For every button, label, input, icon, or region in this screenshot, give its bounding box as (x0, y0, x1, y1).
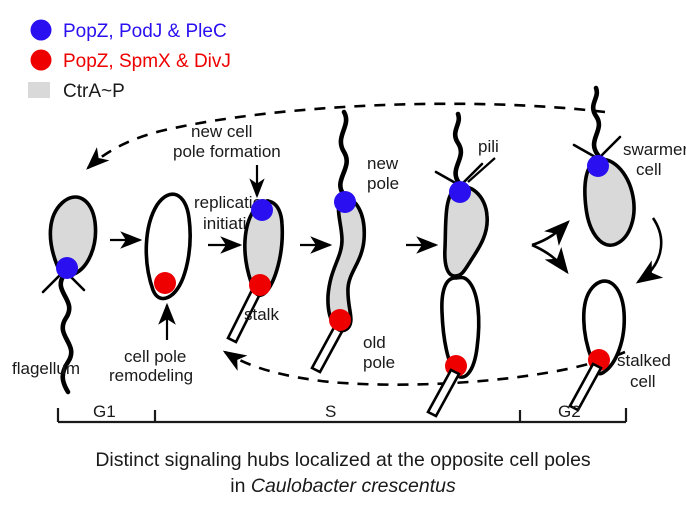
caption-species-name: Caulobacter crescentus (251, 475, 456, 497)
caption-line-2-prefix: in (230, 475, 251, 497)
swarmer-to-stalked-arrow (638, 218, 661, 282)
caption-line-1: Distinct signaling hubs localized at the… (95, 449, 591, 471)
cell-body (328, 198, 364, 331)
daughter-swarmer: swarmer cell (574, 88, 686, 245)
red-circle-marker (31, 50, 52, 71)
label-swarmer-1: swarmer (623, 140, 686, 159)
pili-pointer (468, 158, 495, 182)
dashed-arc-bottom (225, 352, 625, 385)
label-pili: pili (478, 137, 499, 156)
red-hub-marker (154, 272, 176, 294)
phase-label-g2: G2 (558, 402, 581, 421)
blue-circle-marker (31, 20, 52, 41)
blue-hub-marker (56, 257, 78, 279)
pili-stroke-2 (600, 137, 620, 157)
legend-label-ctra: CtrA~P (63, 81, 125, 102)
flagellum-stroke (455, 114, 461, 183)
label-new-cell-pole-2: pole formation (173, 142, 281, 161)
pili-stroke-2 (462, 164, 482, 184)
label-swarmer-2: cell (636, 160, 662, 179)
label-flagellum: flagellum (12, 359, 80, 378)
figure-caption: Distinct signaling hubs localized at the… (95, 449, 591, 497)
label-stalked-1: stalked (617, 351, 671, 370)
gray-square-marker (28, 82, 50, 98)
legend: PopZ, PodJ & PleC PopZ, SpmX & DivJ CtrA… (28, 20, 231, 103)
blue-hub-marker (334, 191, 356, 213)
label-new-cell-pole-1: new cell (191, 122, 252, 141)
legend-label-blue: PopZ, PodJ & PleC (63, 21, 227, 42)
label-cell-pole-remodeling-1: cell pole (124, 347, 186, 366)
split-arrow-up (532, 222, 568, 245)
red-hub-marker (329, 309, 351, 331)
daughter-stalked: stalked cell (570, 281, 671, 410)
red-hub-marker (249, 274, 271, 296)
new-cell-pole-formation-group: new cell pole formation (173, 122, 281, 196)
flagellum-stroke (593, 88, 599, 155)
phase-label-s: S (325, 402, 336, 421)
label-cell-pole-remodeling-2: remodeling (109, 366, 193, 385)
label-stalk: stalk (244, 305, 279, 324)
blue-hub-marker (251, 199, 273, 221)
stalk-shape (428, 370, 459, 416)
phase-axis-line (58, 408, 626, 422)
swarmer-cell-g1: flagellum (12, 197, 96, 392)
label-old-pole-2: pole (363, 353, 395, 372)
figure-root: PopZ, PodJ & PleC PopZ, SpmX & DivJ CtrA… (0, 0, 686, 512)
flagellum-stroke (340, 112, 346, 195)
caption-line-2: in Caulobacter crescentus (230, 475, 456, 497)
blue-hub-marker (449, 181, 471, 203)
blue-hub-marker (587, 155, 609, 177)
label-new-pole-2: pole (367, 174, 399, 193)
division-split-arrows (532, 222, 568, 272)
predivisional-mid: new pole old pole (312, 112, 399, 372)
label-old-pole-1: old (363, 333, 386, 352)
label-stalked-2: cell (630, 372, 656, 391)
label-new-pole-1: new (367, 154, 399, 173)
predivisional-late: pili (428, 114, 499, 416)
phase-axis: G1 S G2 (58, 402, 626, 422)
cell-cycle-diagram: PopZ, PodJ & PleC PopZ, SpmX & DivJ CtrA… (0, 0, 686, 512)
legend-label-red: PopZ, SpmX & DivJ (63, 51, 231, 72)
phase-label-g1: G1 (93, 402, 116, 421)
split-arrow-down (532, 245, 567, 272)
stalked-cell-g1s: cell pole remodeling (109, 194, 193, 385)
